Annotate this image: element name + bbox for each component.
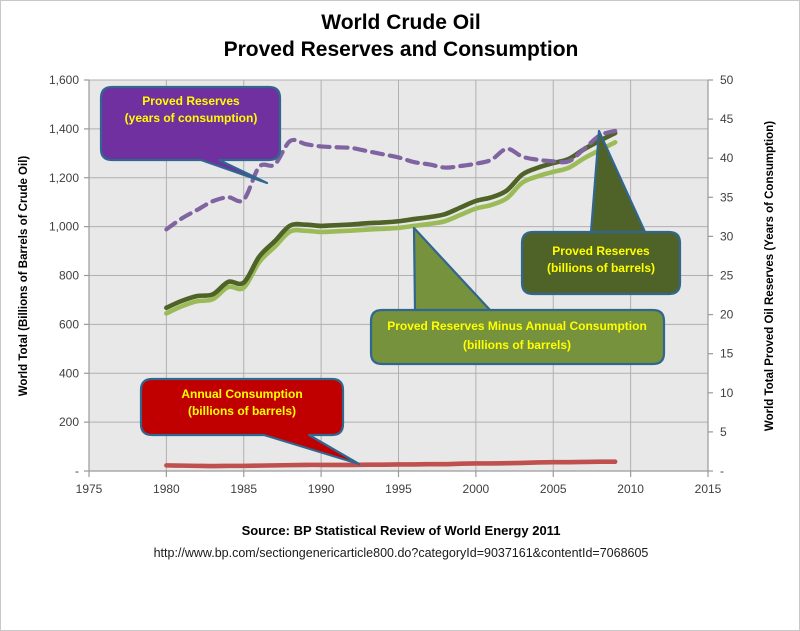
y-axis-title: World Total (Billions of Barrels of Crud… (18, 156, 30, 397)
callout-purple-line1: Proved Reserves (142, 94, 240, 108)
callout-purple-line2: (years of consumption) (125, 111, 258, 125)
y2-tick-label: 25 (720, 269, 734, 283)
y2-tick-label: 40 (720, 151, 734, 165)
callout-red-line2: (billions of barrels) (188, 404, 296, 418)
x-tick-label: 2005 (540, 482, 567, 496)
y-tick-label: - (75, 464, 79, 478)
y-tick-label: 800 (59, 269, 79, 283)
y2-axis-ticks: -5101520253035404550 (708, 73, 734, 478)
y-tick-label: 400 (59, 366, 79, 380)
chart-title-line2: Proved Reserves and Consumption (224, 38, 579, 61)
x-tick-label: 2010 (617, 482, 644, 496)
callout-lightgreen-line1: Proved Reserves Minus Annual Consumption (387, 319, 647, 333)
y-tick-label: 1,000 (49, 220, 79, 234)
y-tick-label: 1,400 (49, 122, 79, 136)
y2-tick-label: 45 (720, 112, 734, 126)
y2-tick-label: 20 (720, 308, 734, 322)
x-axis-ticks: 197519801985199019952000200520102015 (76, 471, 722, 496)
x-tick-label: 2015 (695, 482, 722, 496)
y2-tick-label: 5 (720, 425, 727, 439)
x-tick-label: 1990 (308, 482, 335, 496)
y2-tick-label: 15 (720, 347, 734, 361)
y-axis-ticks: -2004006008001,0001,2001,4001,600 (49, 73, 89, 478)
chart-page: World Crude Oil Proved Reserves and Cons… (0, 0, 800, 631)
y2-axis-title: World Total Proved Oil Reserves (Years o… (764, 121, 776, 431)
y2-tick-label: 50 (720, 73, 734, 87)
x-tick-label: 2000 (463, 482, 490, 496)
y-tick-label: 200 (59, 415, 79, 429)
y2-tick-label: 10 (720, 386, 734, 400)
world-crude-oil-chart: World Crude Oil Proved Reserves and Cons… (1, 1, 800, 631)
callout-lightgreen-line2: (billions of barrels) (463, 338, 571, 352)
chart-title-line1: World Crude Oil (321, 11, 480, 34)
y-tick-label: 1,200 (49, 171, 79, 185)
x-tick-label: 1995 (385, 482, 412, 496)
y2-tick-label: 30 (720, 229, 734, 243)
callout-red-line1: Annual Consumption (181, 387, 302, 401)
y-tick-label: 1,600 (49, 73, 79, 87)
callout-darkgreen-line1: Proved Reserves (552, 244, 650, 258)
y2-tick-label: 35 (720, 190, 734, 204)
x-tick-label: 1975 (76, 482, 103, 496)
x-tick-label: 1985 (230, 482, 257, 496)
source-citation: Source: BP Statistical Review of World E… (242, 523, 561, 538)
source-url[interactable]: http://www.bp.com/sectiongenericarticle8… (154, 546, 649, 560)
y-tick-label: 600 (59, 317, 79, 331)
x-tick-label: 1980 (153, 482, 180, 496)
y2-tick-label: - (720, 464, 724, 478)
callout-darkgreen-line2: (billions of barrels) (547, 261, 655, 275)
